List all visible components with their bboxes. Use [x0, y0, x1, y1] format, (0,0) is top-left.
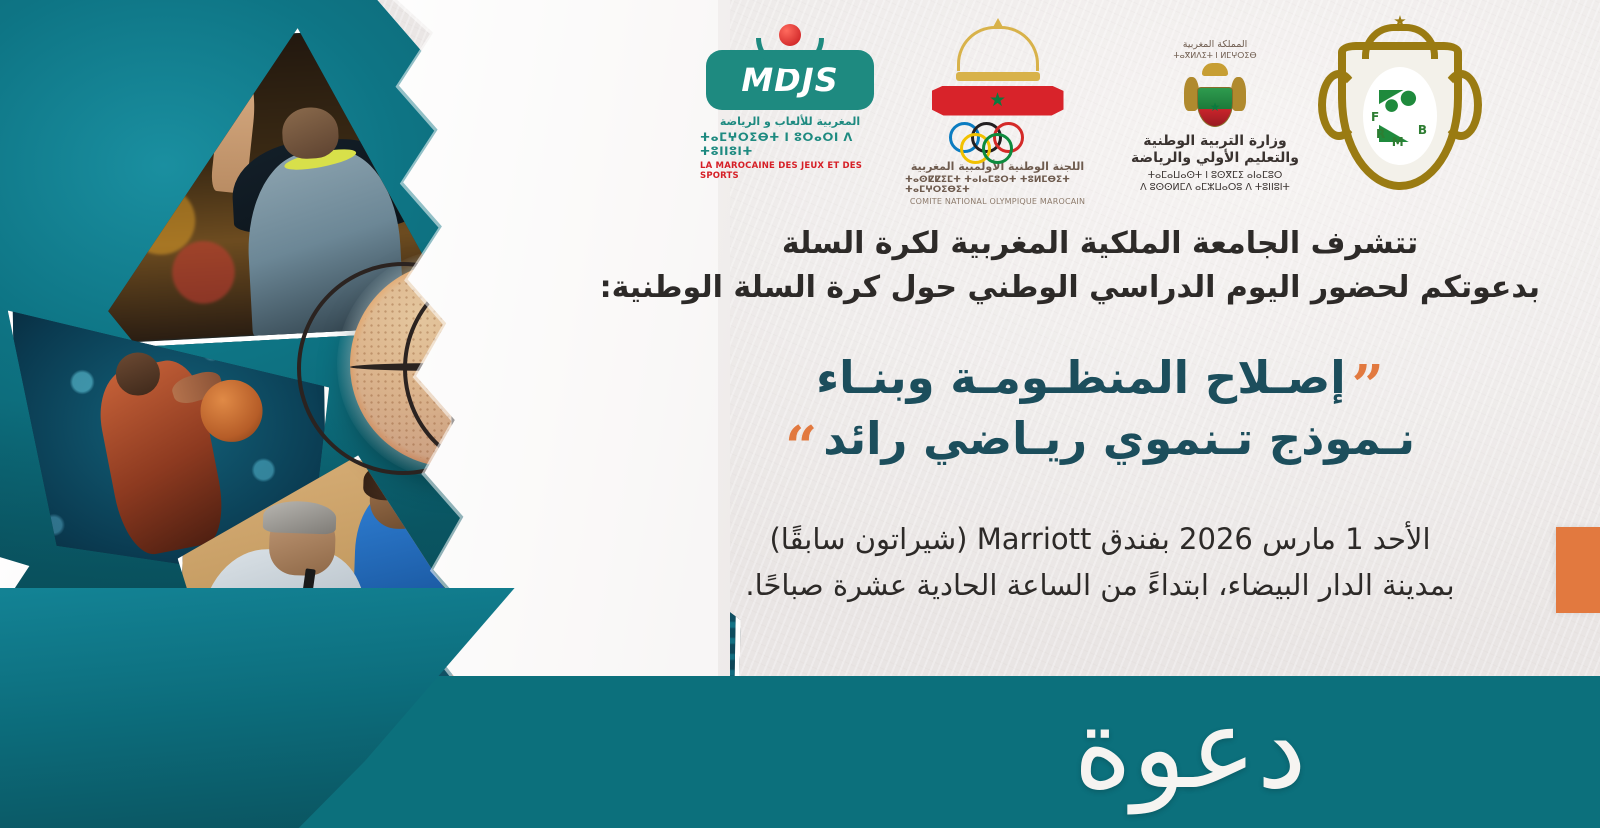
event-details: الأحد 1 مارس 2026 بفندق Marriott (شيراتو…: [660, 516, 1540, 609]
logo-ministere-education: المملكة المغربية ⵜⴰⴳⵍⴷⵉⵜ ⵏ ⵍⵎⵖⵔⵉⴱ وزارة …: [1115, 39, 1315, 193]
mdjs-arabic-line: المغربية للألعاب و الرياضة: [720, 115, 860, 128]
ministry-arabic-line-2: والتعليم الأولي والرياضة: [1131, 150, 1299, 166]
quote-close-icon: “: [785, 414, 817, 480]
frmb-letter-m: M: [1392, 135, 1404, 149]
headline-line-2-wrap: نـموذج تـنموي ريـاضي رائد“: [660, 409, 1540, 470]
cnom-french-line: COMITE NATIONAL OLYMPIQUE MAROCAIN: [910, 197, 1085, 206]
intro-line-1: تتشرف الجامعة الملكية المغربية لكرة السل…: [660, 222, 1540, 266]
frmb-trophy-icon: F R M B: [1338, 42, 1462, 190]
crown-band: [956, 72, 1040, 81]
logo-row: MDJS المغربية للألعاب و الرياضة ⵜⴰⵎⵖⵔⵉⴱⵜ…: [700, 28, 1460, 203]
red-ribbon: ★: [932, 86, 1064, 116]
green-star-icon: ★: [989, 91, 1006, 110]
crown-icon: [957, 26, 1039, 71]
ministry-tifinagh-line-1: ⵜⴰⵎⴰⵡⴰⵙⵜ ⵏ ⵓⵙⴳⵎⵉ ⴰⵏⴰⵎⵓⵔ: [1148, 170, 1283, 181]
kingdom-tifinagh-line: ⵜⴰⴳⵍⴷⵉⵜ ⵏ ⵍⵎⵖⵔⵉⴱ: [1173, 51, 1256, 60]
coat-lion-right: [1231, 77, 1246, 111]
logo-comite-olympique: ★ اللجنة الوطنية الأولمبية المغربية ⵜⴰⵙⵇ…: [905, 26, 1090, 206]
intro-text: تتشرف الجامعة الملكية المغربية لكرة السل…: [660, 222, 1540, 311]
headline-line-2: نـموذج تـنموي ريـاضي رائد: [823, 412, 1415, 465]
frmb-handle-left: [1318, 70, 1360, 140]
invitation-poster: MDJS المغربية للألعاب و الرياضة ⵜⴰⵎⵖⵔⵉⴱⵜ…: [0, 0, 1600, 828]
orange-accent-tab: [1556, 527, 1600, 613]
frmb-players-figure: [1379, 90, 1421, 142]
mdjs-tifinagh-line: ⵜⴰⵎⵖⵔⵉⴱⵜ ⵏ ⵓⵔⴰⵔⵏ ⴷ ⵜⵓⵏⵏⵓⵏⵜ: [700, 130, 880, 158]
details-line-2: بمدينة الدار البيضاء، ابتداءً من الساعة …: [660, 562, 1540, 608]
cnom-tifinagh-line: ⵜⴰⵙⵇⵇⵉⵎⵜ ⵜⴰⵏⴰⵎⵓⵔⵜ ⵜⵓⵍⵎⴱⵉⵜ ⵜⴰⵎⵖⵔⵉⴱⵉⵜ: [905, 175, 1090, 195]
frmb-letter-r: R: [1376, 127, 1385, 141]
coat-crown: [1202, 63, 1228, 76]
frmb-inner-oval: F R M B: [1363, 67, 1437, 165]
frmb-crown-icon: [1362, 24, 1438, 59]
mdjs-badge: MDJS: [706, 50, 874, 110]
calligraphy-daawa: دعوة: [980, 674, 1400, 824]
frmb-handle-right: [1440, 70, 1482, 140]
mdjs-ball-icon: [779, 24, 801, 46]
coat-shield: [1197, 87, 1233, 127]
dunking-player-head: [116, 352, 160, 396]
morocco-coat-of-arms-icon: [1182, 65, 1248, 127]
headline-block: ”إصـلاح المنظـومـة وبنـاء نـموذج تـنموي …: [660, 348, 1540, 470]
ministry-tifinagh-line-2: ⴷ ⵓⵙⵙⵍⵎⴷ ⴰⵎⵣⵡⴰⵔⵓ ⴷ ⵜⵓⵏⵏⵓⵏⵜ: [1140, 182, 1290, 193]
olympic-rings-icon: [943, 122, 1053, 156]
intro-line-2: بدعوتكم لحضور اليوم الدراسي الوطني حول ك…: [660, 266, 1540, 310]
headline-line-1: إصـلاح المنظـومـة وبنـاء: [816, 351, 1346, 404]
ministry-arabic-line-1: وزارة التربية الوطنية: [1143, 133, 1287, 149]
frmb-letter-b: B: [1418, 123, 1427, 137]
logo-mdjs: MDJS المغربية للألعاب و الرياضة ⵜⴰⵎⵖⵔⵉⴱⵜ…: [700, 50, 880, 181]
details-line-1: الأحد 1 مارس 2026 بفندق Marriott (شيراتو…: [660, 516, 1540, 562]
frmb-letter-f: F: [1371, 110, 1379, 124]
logo-frmb: F R M B: [1340, 42, 1460, 190]
mdjs-french-line: LA MAROCAINE DES JEUX ET DES SPORTS: [700, 161, 880, 181]
referee-head: [281, 106, 340, 160]
kingdom-arabic-line: المملكة المغربية: [1183, 39, 1247, 50]
headline-line-1-wrap: ”إصـلاح المنظـومـة وبنـاء: [660, 348, 1540, 409]
